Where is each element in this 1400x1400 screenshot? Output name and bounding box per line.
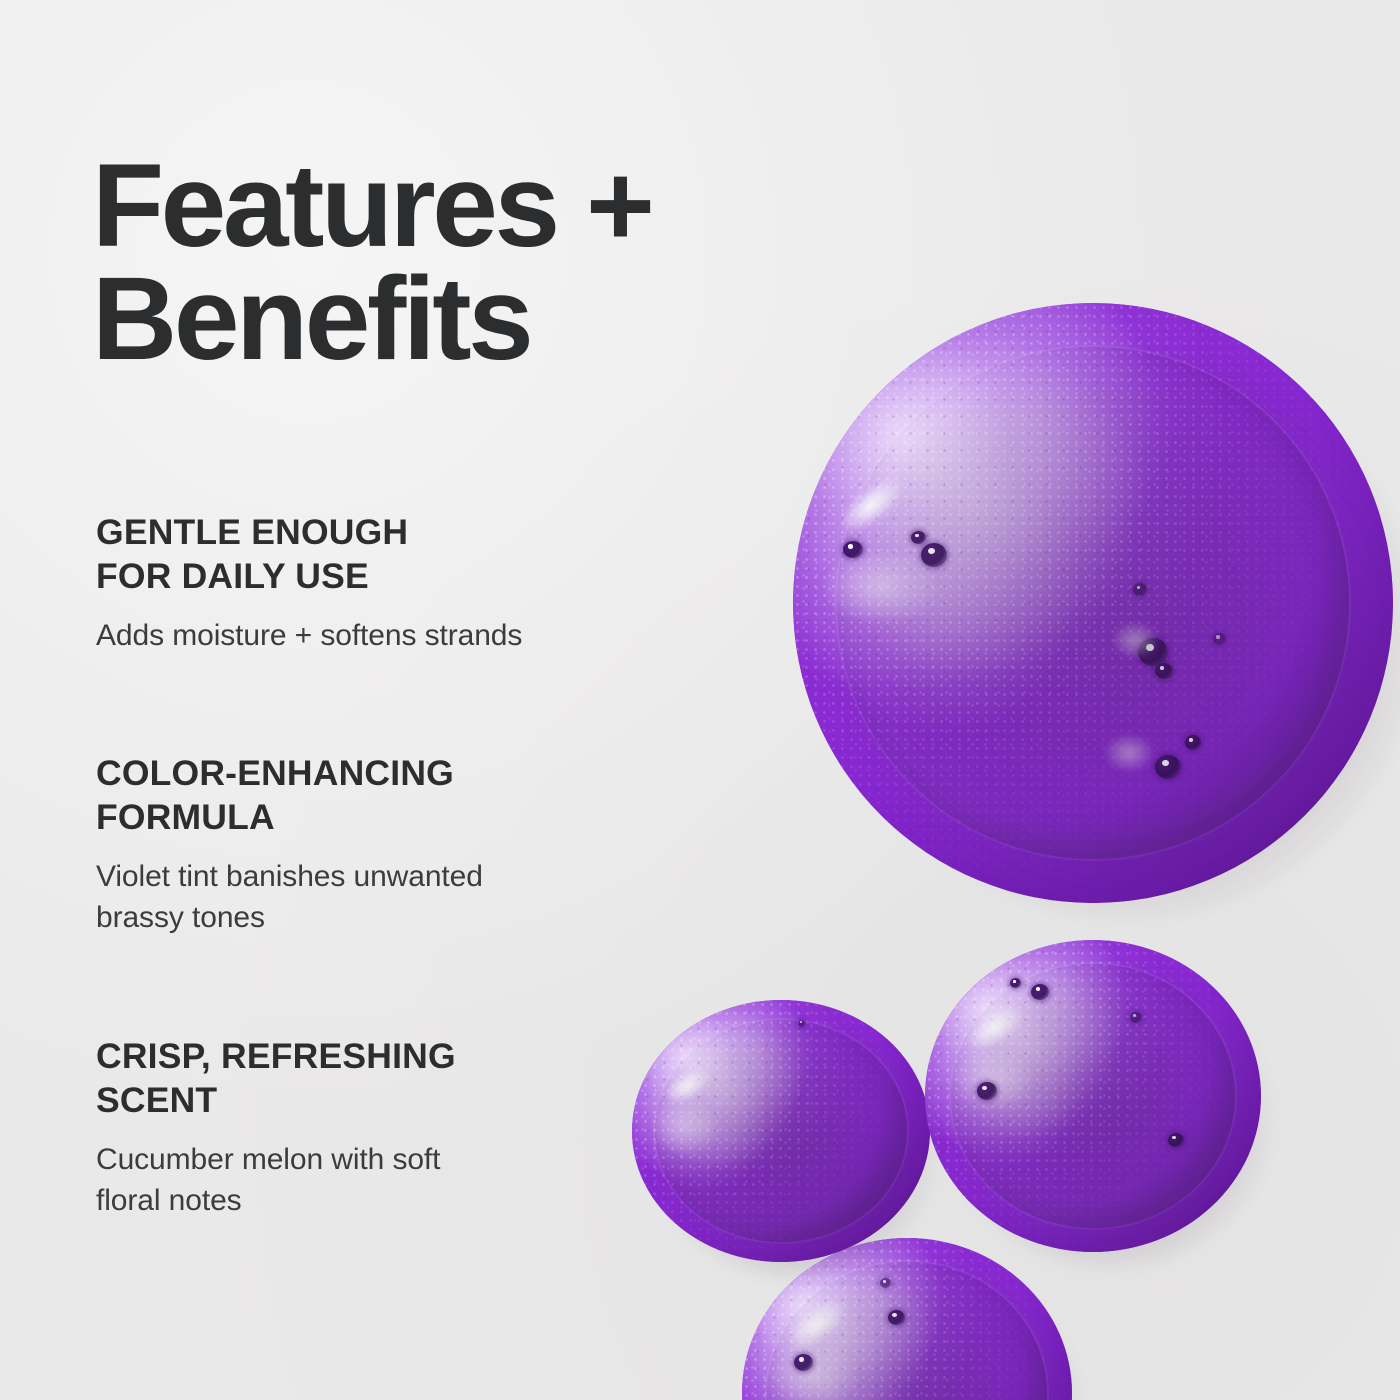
- feature-description: Cucumber melon with soft floral notes: [96, 1140, 692, 1222]
- medium-right-droplet-bubble: [1010, 978, 1021, 988]
- small-left-droplet-shadow: [650, 1026, 942, 1278]
- content-column: Features + Benefits GENTLE ENOUGH FOR DA…: [92, 150, 692, 1222]
- large-droplet-shadow: [838, 350, 1400, 920]
- feature-item-crisp-refreshing-scent: CRISP, REFRESHING SCENT Cucumber melon w…: [96, 1034, 692, 1222]
- feature-list: GENTLE ENOUGH FOR DAILY USE Adds moistur…: [92, 510, 692, 1222]
- feature-description: Adds moisture + softens strands: [96, 616, 692, 657]
- feature-item-gentle-enough-for-daily-use: GENTLE ENOUGH FOR DAILY USE Adds moistur…: [96, 510, 692, 657]
- feature-title: GENTLE ENOUGH FOR DAILY USE: [96, 510, 692, 598]
- feature-title: COLOR-ENHANCING FORMULA: [96, 751, 692, 839]
- product-feature-card: Features + Benefits GENTLE ENOUGH FOR DA…: [0, 0, 1400, 1400]
- medium-right-droplet-shadow: [945, 968, 1275, 1268]
- feature-title: CRISP, REFRESHING SCENT: [96, 1034, 692, 1122]
- feature-item-color-enhancing-formula: COLOR-ENHANCING FORMULA Violet tint bani…: [96, 751, 692, 939]
- page-title: Features + Benefits: [92, 150, 692, 377]
- feature-description: Violet tint banishes unwanted brassy ton…: [96, 857, 692, 939]
